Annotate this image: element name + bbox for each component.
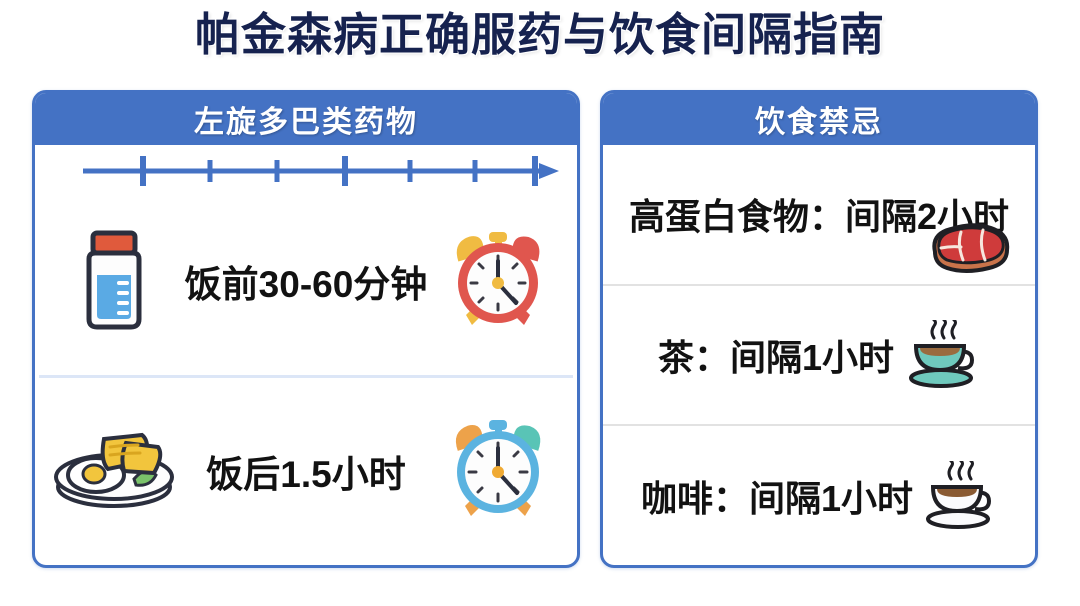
card-levodopa: 左旋多巴类药物	[32, 90, 580, 568]
teacup-icon	[906, 320, 980, 392]
medicine-bottle-icon	[49, 229, 179, 333]
card-diet-restrictions-body: 高蛋白食物：间隔2小时 茶：间隔1小时	[603, 145, 1035, 565]
red-alarm-clock-icon	[433, 225, 563, 337]
meal-plate-icon	[49, 421, 179, 521]
card-diet-restrictions: 饮食禁忌 高蛋白食物：间隔2小时	[600, 90, 1038, 568]
card-levodopa-body: 饭前30-60分钟	[35, 145, 577, 565]
page-title: 帕金森病正确服药与饮食间隔指南	[0, 10, 1080, 60]
steak-icon	[927, 222, 1013, 278]
card-diet-restrictions-header: 饮食禁忌	[603, 93, 1035, 145]
row-before-meal: 饭前30-60分钟	[35, 187, 577, 375]
card-levodopa-header: 左旋多巴类药物	[35, 93, 577, 145]
row-tea: 茶：间隔1小时	[603, 286, 1035, 425]
timeline-arrow-icon	[35, 145, 577, 187]
row-tea-text: 茶：间隔1小时	[658, 329, 894, 381]
row-high-protein: 高蛋白食物：间隔2小时	[603, 145, 1035, 284]
row-coffee-text: 咖啡：间隔1小时	[641, 470, 913, 522]
coffee-cup-icon	[923, 461, 997, 533]
row-after-meal: 饭后1.5小时	[35, 378, 577, 566]
row-coffee: 咖啡：间隔1小时	[603, 426, 1035, 565]
row-after-meal-text: 饭后1.5小时	[179, 444, 433, 498]
row-before-meal-text: 饭前30-60分钟	[179, 254, 433, 308]
blue-alarm-clock-icon	[433, 412, 563, 530]
